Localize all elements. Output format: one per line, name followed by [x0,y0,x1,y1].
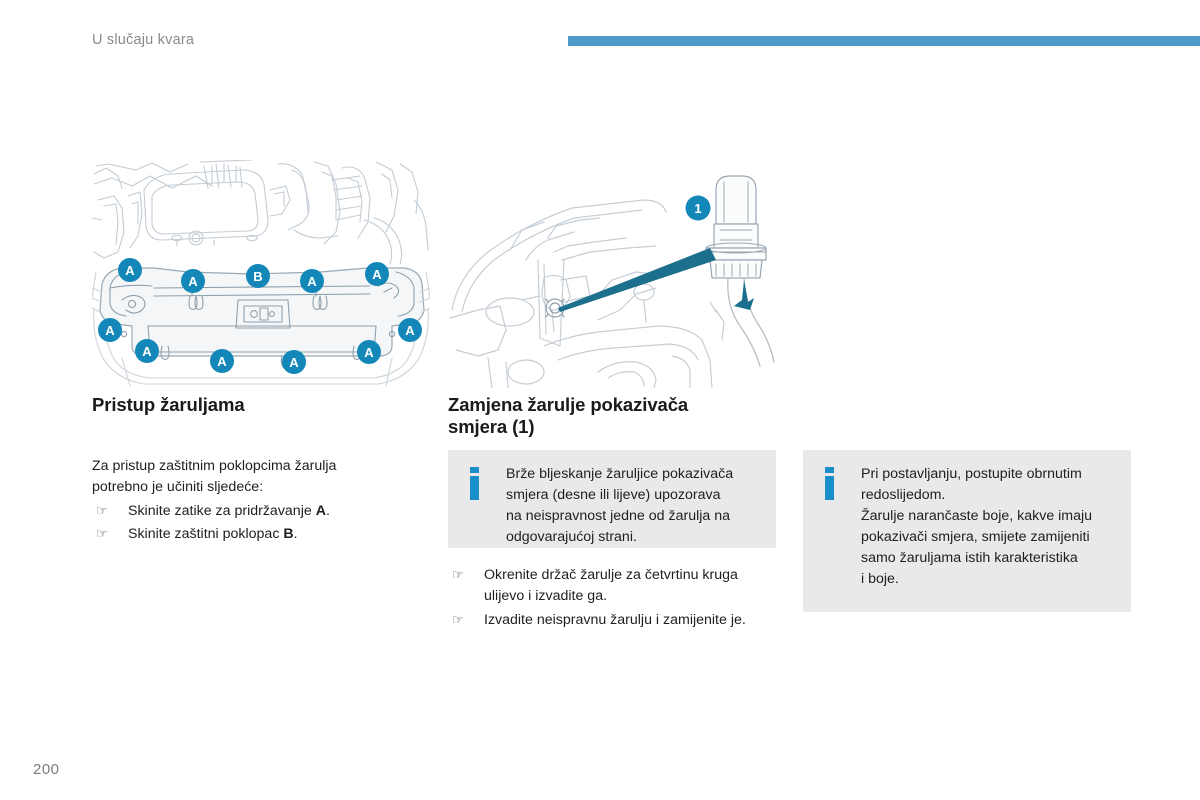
svg-text:A: A [217,354,227,369]
badge-group: 1 [686,196,711,221]
step-ref-label: A [316,503,326,519]
info-line: na neispravnost jedne od žarulja na [506,506,760,527]
info-line: samo žaruljama istih karakteristika [861,548,1115,569]
running-head-chapter-title: U slučaju kvara [92,32,194,48]
info-icon [470,467,479,500]
svg-text:A: A [307,274,317,289]
list-item: ☞ Okrenite držač žarulje za četvrtinu kr… [448,565,788,608]
step-text: Skinite zaštitni poklopac [128,526,283,542]
left-column: Pristup žaruljama Za pristup zaštitnim p… [92,394,422,546]
step-tail: . [326,503,330,519]
info-line: Žarulje narančaste boje, kakve imaju [861,506,1115,527]
manual-page: U slučaju kvara [0,0,1200,800]
list-item: ☞ Skinite zaštitni poklopac B. [92,524,422,545]
step-line-1: Okrenite držač žarulje za četvrtinu krug… [484,567,738,583]
header-blue-rule [568,36,1200,46]
pointing-hand-icon: ☞ [96,501,108,521]
intro-line-2: potrebno je učiniti sljedeće: [92,477,422,498]
svg-text:A: A [105,323,115,338]
removal-direction-arrow [558,248,716,312]
page-number: 200 [33,761,60,778]
info-box-flashing-warning: Brže bljeskanje žaruljice pokazivača smj… [448,450,776,548]
intro-paragraph: Za pristup zaštitnim poklopcima žarulja … [92,456,422,499]
step-line-2: ulijevo i izvadite ga. [484,588,607,604]
info-text: Brže bljeskanje žaruljice pokazivača smj… [506,464,760,548]
access-steps-list: ☞ Skinite zatike za pridržavanje A. ☞ Sk… [92,501,422,545]
engine-bay-bulb-access-diagram: A A B A A A A A A A A [92,160,430,388]
svg-text:A: A [125,263,135,278]
step-text: Skinite zatike za pridržavanje [128,503,316,519]
section-title-line-1: Zamjena žarulje pokazivača [448,394,688,415]
info-icon [825,467,834,500]
list-item: ☞ Izvadite neispravnu žarulju i zamijeni… [448,610,788,631]
bulb-replacement-steps: ☞ Okrenite držač žarulje za četvrtinu kr… [448,562,788,633]
section-title-zamjena-zarulje: Zamjena žarulje pokazivača smjera (1) [448,394,778,438]
info-line: pokazivači smjera, smijete zamijeniti [861,527,1115,548]
section-title-pristup-zaruljama: Pristup žaruljama [92,394,422,416]
svg-text:A: A [364,345,374,360]
info-line: Pri postavljanju, postupite obrnutim [861,464,1115,485]
step-ref-label: B [283,526,293,542]
info-line: i boje. [861,569,1115,590]
step-line-1: Izvadite neispravnu žarulju i zamijenite… [484,612,746,628]
pointing-hand-icon: ☞ [452,565,464,585]
svg-text:A: A [405,323,415,338]
svg-text:B: B [253,269,262,284]
info-line: redoslijedom. [861,485,1115,506]
list-item: ☞ Skinite zatike za pridržavanje A. [92,501,422,522]
info-line: Brže bljeskanje žaruljice pokazivača [506,464,760,485]
step-tail: . [294,526,298,542]
svg-text:A: A [188,274,198,289]
svg-text:A: A [289,355,299,370]
svg-text:A: A [142,344,152,359]
intro-line-1: Za pristup zaštitnim poklopcima žarulja [92,456,422,477]
replacement-steps-list: ☞ Okrenite držač žarulje za četvrtinu kr… [448,565,788,631]
pointing-hand-icon: ☞ [452,610,464,630]
section-title-line-2: smjera (1) [448,416,534,437]
info-box-refitting-note: Pri postavljanju, postupite obrnutim red… [803,450,1131,612]
info-line: smjera (desne ili lijeve) upozorava [506,485,760,506]
pointing-hand-icon: ☞ [96,524,108,544]
indicator-bulb-removal-diagram: 1 [448,160,786,388]
info-line: odgovarajućoj strani. [506,527,760,548]
svg-text:A: A [372,267,382,282]
info-text: Pri postavljanju, postupite obrnutim red… [861,464,1115,590]
svg-text:1: 1 [694,201,701,216]
middle-column: Zamjena žarulje pokazivača smjera (1) [448,394,778,442]
